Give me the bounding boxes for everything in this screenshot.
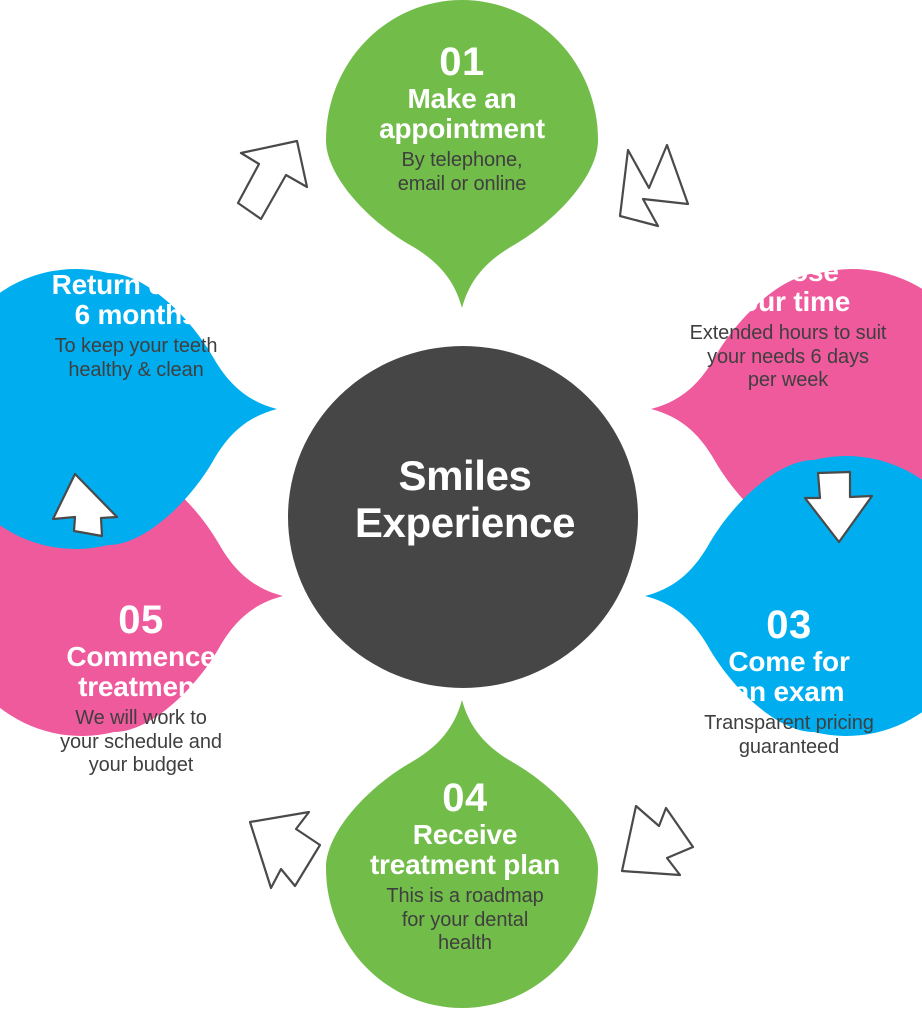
step-bubble-04[interactable]: [326, 700, 598, 1008]
step-bubble-03[interactable]: [645, 456, 922, 736]
center-hub[interactable]: [288, 346, 638, 688]
bubble-shape-01: [326, 0, 598, 308]
bubble-shape-04: [326, 700, 598, 1008]
center-circle-shape: [288, 346, 638, 688]
bubble-shape-06: [0, 269, 277, 549]
infographic-canvas: 01 Make an appointment By telephone, ema…: [0, 0, 922, 1024]
process-wheel-graphic: [0, 0, 922, 1024]
step-bubble-06[interactable]: [0, 269, 277, 549]
arrow-03-to-04: [622, 806, 693, 875]
bubble-shape-03: [645, 456, 922, 736]
step-bubble-01[interactable]: [326, 0, 598, 308]
arrow-01-to-02: [620, 145, 688, 226]
arrow-06-to-01: [238, 141, 307, 219]
arrow-04-to-05: [250, 812, 320, 888]
